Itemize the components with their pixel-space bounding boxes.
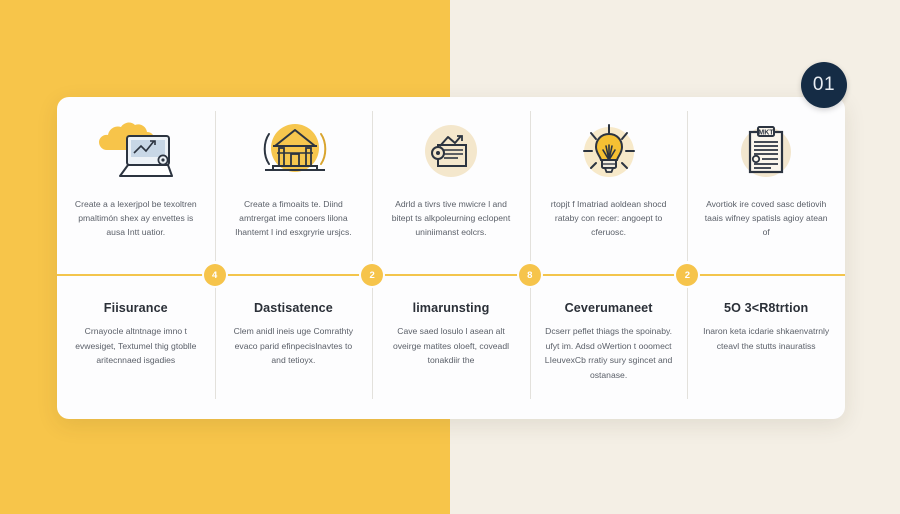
- top-column-5-text: Avortiok ire coved sasc detiovih taais w…: [701, 197, 831, 240]
- step-dot-1[interactable]: 4: [204, 264, 226, 286]
- bottom-column-2-text: Clem anidl ineis uge Comrathty evaco par…: [229, 324, 359, 368]
- step-dot-3[interactable]: 8: [519, 264, 541, 286]
- top-column-5[interactable]: MKT Avortiok ire coved sasc detiovih taa…: [687, 97, 845, 275]
- bottom-column-1-title: Fiisurance: [104, 301, 168, 315]
- step-dot-2-label: 2: [370, 270, 375, 281]
- timeline-line: [57, 274, 845, 276]
- bottom-row: Fiisurance Crnayocle altntnage imno t ev…: [57, 275, 845, 419]
- top-row: Create a a lexerjpol be texoltren pmalti…: [57, 97, 845, 275]
- bottom-column-1[interactable]: Fiisurance Crnayocle altntnage imno t ev…: [57, 275, 215, 419]
- step-number-badge-label: 01: [813, 74, 835, 96]
- step-dot-4-label: 2: [685, 270, 690, 281]
- step-dot-3-label: 8: [527, 270, 532, 281]
- top-column-2-text: Create a fimoaits te. Diind amtrergat im…: [229, 197, 359, 240]
- clipboard-contract-icon: MKT: [727, 119, 805, 185]
- lightbulb-idea-icon: [570, 119, 648, 185]
- top-column-4-text: rtopjt f Imatriad aoldean shocd rataby c…: [544, 197, 674, 240]
- top-column-4[interactable]: rtopjt f Imatriad aoldean shocd rataby c…: [530, 97, 688, 275]
- bottom-column-4[interactable]: Ceverumaneet Dcserr peflet thiags the sp…: [530, 275, 688, 419]
- infographic-card: Create a a lexerjpol be texoltren pmalti…: [57, 97, 845, 419]
- top-column-2[interactable]: Create a fimoaits te. Diind amtrergat im…: [215, 97, 373, 275]
- bottom-column-5-title: 5O 3<R8trtion: [724, 301, 808, 315]
- laptop-chart-icon: [97, 119, 175, 185]
- top-column-3-text: Adrld a tivrs tive mwicre l and bitept t…: [386, 197, 516, 240]
- top-column-1[interactable]: Create a a lexerjpol be texoltren pmalti…: [57, 97, 215, 275]
- top-column-3[interactable]: Adrld a tivrs tive mwicre l and bitept t…: [372, 97, 530, 275]
- bank-building-icon: [254, 119, 332, 185]
- bottom-column-3[interactable]: limarunsting Cave saed losulo l asean al…: [372, 275, 530, 419]
- svg-text:MKT: MKT: [759, 130, 775, 137]
- step-dot-1-label: 4: [212, 270, 217, 281]
- certificate-document-icon: [412, 119, 490, 185]
- step-number-badge: 01: [801, 62, 847, 108]
- bottom-column-5[interactable]: 5O 3<R8trtion Inaron keta icdarie shkaen…: [687, 275, 845, 419]
- bottom-column-4-title: Ceverumaneet: [565, 301, 653, 315]
- bottom-column-2[interactable]: Dastisatence Clem anidl ineis uge Comrat…: [215, 275, 373, 419]
- bottom-column-3-text: Cave saed losulo l asean alt oveirge mat…: [386, 324, 516, 368]
- top-column-1-text: Create a a lexerjpol be texoltren pmalti…: [71, 197, 201, 240]
- bottom-column-3-title: limarunsting: [413, 301, 490, 315]
- bottom-column-4-text: Dcserr peflet thiags the spoinaby. ufyt …: [544, 324, 674, 382]
- bottom-column-1-text: Crnayocle altntnage imno t evwesiget, Te…: [71, 324, 201, 368]
- bottom-column-2-title: Dastisatence: [254, 301, 333, 315]
- bottom-column-5-text: Inaron keta icdarie shkaenvatrnly cteavl…: [701, 324, 831, 353]
